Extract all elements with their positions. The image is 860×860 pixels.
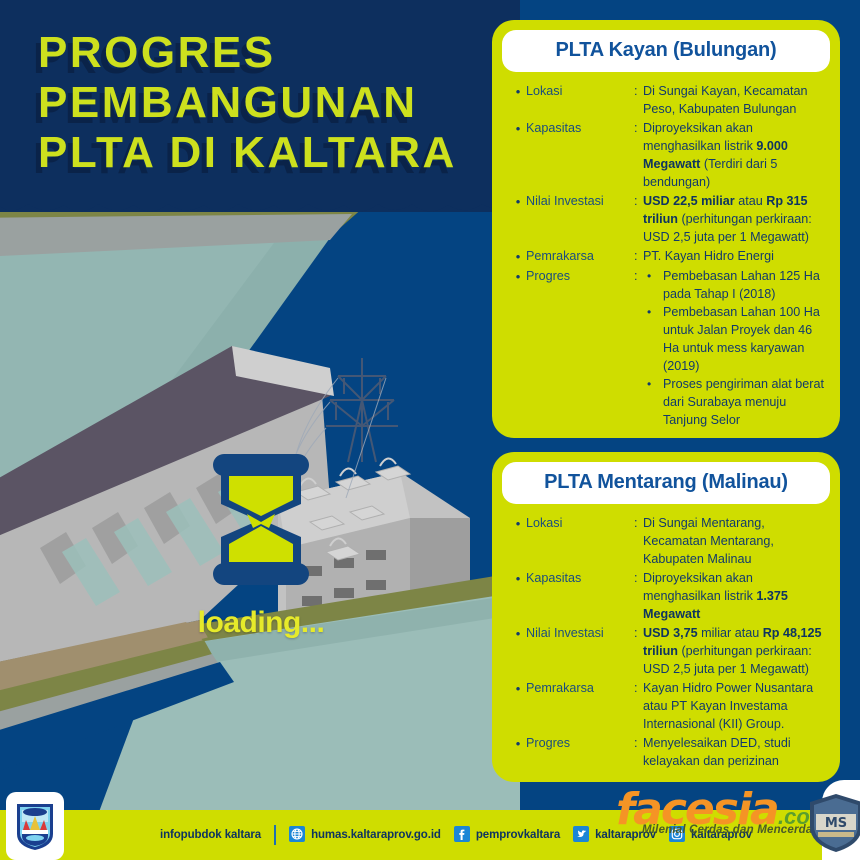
row-label: Progres [526,734,634,752]
footer-item-none[interactable]: infopubdok kaltara [160,829,261,841]
row-colon: : [634,679,643,697]
card-row: •Nilai Investasi:USD 3,75 miliar atau Rp… [510,624,824,678]
footer-item-twitter[interactable]: kaltaraprov [573,826,656,845]
instagram-icon[interactable] [669,826,685,845]
title-line-2: PEMBANGUNAN [38,78,498,128]
footer-links: infopubdok kaltarahumas.kaltaraprov.go.i… [160,810,752,860]
sublist-item: Pembebasan Lahan 100 Ha untuk Jalan Proy… [643,303,824,375]
row-value: USD 3,75 miliar atau Rp 48,125 triliun (… [643,624,824,678]
kaltara-provincial-emblem [13,800,57,852]
twitter-icon[interactable] [573,826,589,845]
bullet-icon: • [510,514,526,533]
row-colon: : [634,192,643,210]
card-mentarang-rows: •Lokasi:Di Sungai Mentarang, Kecamatan M… [502,504,830,770]
row-colon: : [634,734,643,752]
header-notched-edge [0,198,520,220]
row-value: Di Sungai Mentarang, Kecamatan Mentarang… [643,514,824,568]
row-label: Pemrakarsa [526,247,634,265]
row-colon: : [634,569,643,587]
card-row: •Kapasitas:Diproyeksikan akan menghasilk… [510,569,824,623]
sublist-item: Pembebasan Lahan 125 Ha pada Tahap I (20… [643,267,824,303]
footer-bar: infopubdok kaltarahumas.kaltaraprov.go.i… [0,810,860,860]
row-value: Menyelesaikan DED, studi kelayakan dan p… [643,734,824,770]
row-value: USD 22,5 miliar atau Rp 315 triliun (per… [643,192,824,246]
row-colon: : [634,514,643,532]
footer-item-globe[interactable]: humas.kaltaraprov.go.id [289,826,441,845]
bullet-icon: • [510,267,526,286]
bullet-icon: • [510,734,526,753]
row-colon: : [634,82,643,100]
card-row: •Lokasi:Di Sungai Kayan, Kecamatan Peso,… [510,82,824,118]
bullet-icon: • [510,569,526,588]
bullet-icon: • [510,247,526,266]
loading-label: loading... [196,606,326,640]
bullet-icon: • [510,82,526,101]
row-value: Pembebasan Lahan 125 Ha pada Tahap I (20… [643,267,824,429]
row-colon: : [634,119,643,137]
footer-item-label: infopubdok kaltara [160,829,261,841]
card-row: •Kapasitas:Diproyeksikan akan menghasilk… [510,119,824,191]
card-row: •Lokasi:Di Sungai Mentarang, Kecamatan M… [510,514,824,568]
bullet-icon: • [510,624,526,643]
card-plta-mentarang: PLTA Mentarang (Malinau) •Lokasi:Di Sung… [492,452,840,782]
bullet-icon: • [510,119,526,138]
row-value: Di Sungai Kayan, Kecamatan Peso, Kabupat… [643,82,824,118]
globe-icon[interactable] [289,826,305,845]
card-row: •Progres:Menyelesaikan DED, studi kelaya… [510,734,824,770]
sublist-item: Proses pengiriman alat berat dari Suraba… [643,375,824,429]
footer-item-label: pemprovkaltara [476,829,560,841]
card-row: •Progres:Pembebasan Lahan 125 Ha pada Ta… [510,267,824,429]
row-value: PT. Kayan Hidro Energi [643,247,824,265]
footer-item-label: humas.kaltaraprov.go.id [311,829,441,841]
row-label: Nilai Investasi [526,624,634,642]
card-kayan-rows: •Lokasi:Di Sungai Kayan, Kecamatan Peso,… [502,72,830,429]
row-colon: : [634,247,643,265]
footer-item-label: kaltaraprov [691,829,752,841]
title-line-1: PROGRES [38,28,498,78]
row-value: Diproyeksikan akan menghasilkan listrik … [643,569,824,623]
row-label: Progres [526,267,634,285]
card-row: •Pemrakarsa:PT. Kayan Hidro Energi [510,247,824,266]
row-sublist: Pembebasan Lahan 125 Ha pada Tahap I (20… [643,267,824,429]
card-row: •Nilai Investasi:USD 22,5 miliar atau Rp… [510,192,824,246]
page-title: PROGRES PEMBANGUNAN PLTA DI KALTARA [38,28,498,178]
row-label: Lokasi [526,82,634,100]
card-mentarang-title: PLTA Mentarang (Malinau) [502,462,830,504]
row-label: Kapasitas [526,119,634,137]
loading-indicator: loading... [196,452,326,640]
footer-item-instagram[interactable]: kaltaraprov [669,826,752,845]
facebook-icon[interactable] [454,826,470,845]
footer-divider [274,825,276,845]
title-line-3: PLTA DI KALTARA [38,128,498,178]
card-row: •Pemrakarsa:Kayan Hidro Power Nusantara … [510,679,824,733]
kaltara-emblem-container [6,792,64,860]
footer-item-label: kaltaraprov [595,829,656,841]
row-label: Pemrakarsa [526,679,634,697]
row-label: Nilai Investasi [526,192,634,210]
bullet-icon: • [510,192,526,211]
row-colon: : [634,267,643,285]
card-plta-kayan: PLTA Kayan (Bulungan) •Lokasi:Di Sungai … [492,20,840,438]
row-colon: : [634,624,643,642]
hourglass-icon [207,452,315,587]
row-label: Lokasi [526,514,634,532]
row-value: Diproyeksikan akan menghasilkan listrik … [643,119,824,191]
bullet-icon: • [510,679,526,698]
footer-item-facebook[interactable]: pemprovkaltara [454,826,560,845]
row-label: Kapasitas [526,569,634,587]
row-value: Kayan Hidro Power Nusantara atau PT Kaya… [643,679,824,733]
card-kayan-title: PLTA Kayan (Bulungan) [502,30,830,72]
infographic-canvas: PROGRES PEMBANGUNAN PLTA DI KALTARA load… [0,0,860,860]
